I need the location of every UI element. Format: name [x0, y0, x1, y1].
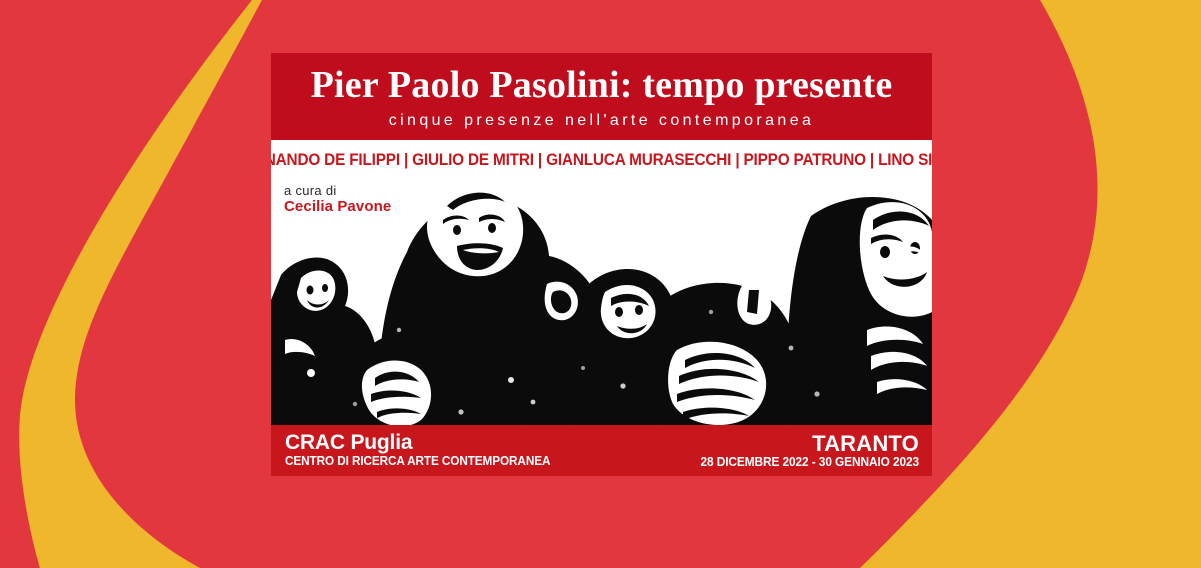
curator-credit: a cura di Cecilia Pavone: [284, 183, 391, 216]
poster-footer-band: CRAC Puglia CENTRO DI RICERCA ARTE CONTE…: [271, 425, 932, 476]
city-name: TARANTO: [689, 432, 919, 456]
poster-photograph: a cura di Cecilia Pavone: [271, 180, 932, 425]
poster-subtitle: cinque presenze nell'arte contemporanea: [271, 110, 932, 132]
venue-subtitle: CENTRO DI RICERCA ARTE CONTEMPORANEA: [285, 455, 550, 469]
artists-list: FERNANDO DE FILIPPI | GIULIO DE MITRI | …: [271, 151, 932, 170]
artists-row: FERNANDO DE FILIPPI | GIULIO DE MITRI | …: [271, 140, 932, 180]
poster-header-band: Pier Paolo Pasolini: tempo presente cinq…: [271, 53, 932, 140]
crowd-photo-graphic: [271, 180, 932, 425]
exhibition-dates: 28 DICEMBRE 2022 - 30 GENNAIO 2023: [700, 456, 919, 470]
curator-prefix: a cura di: [284, 183, 391, 198]
poster-title: Pier Paolo Pasolini: tempo presente: [271, 60, 932, 110]
curator-name: Cecilia Pavone: [284, 198, 391, 216]
city-dates-block: TARANTO 28 DICEMBRE 2022 - 30 GENNAIO 20…: [689, 432, 919, 469]
venue-name: CRAC Puglia: [285, 432, 567, 455]
venue-block: CRAC Puglia CENTRO DI RICERCA ARTE CONTE…: [285, 432, 567, 468]
exhibition-poster: Pier Paolo Pasolini: tempo presente cinq…: [271, 53, 932, 476]
